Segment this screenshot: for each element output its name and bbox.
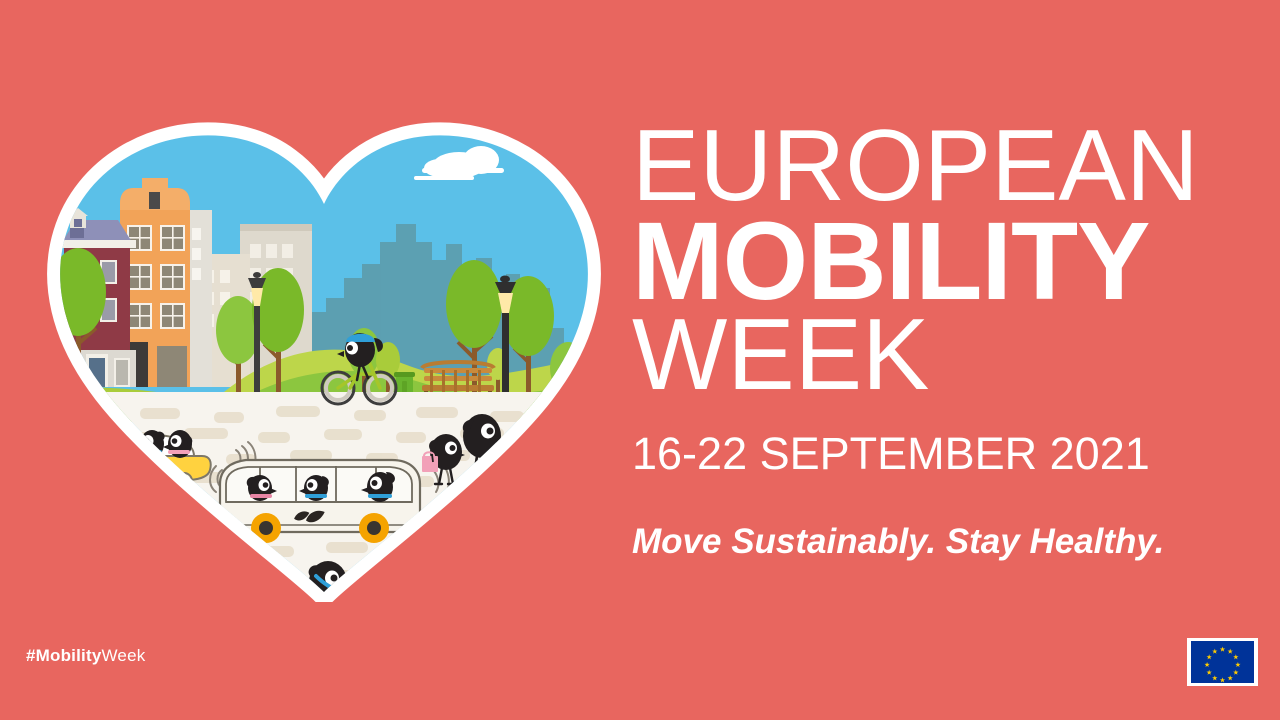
hashtag-light-part: Week [101, 646, 145, 665]
poster-text-block: EUROPEAN MOBILITY WEEK 16-22 SEPTEMBER 2… [632, 118, 1232, 562]
heart-scene [44, 92, 604, 602]
mobility-week-poster: EUROPEAN MOBILITY WEEK 16-22 SEPTEMBER 2… [0, 0, 1280, 720]
hashtag-bold-part: Mobility [36, 646, 102, 665]
european-union-flag [1187, 638, 1258, 686]
hashtag: #MobilityWeek [26, 646, 145, 666]
heart-city-illustration [44, 92, 604, 602]
event-date: 16-22 SEPTEMBER 2021 [632, 428, 1232, 480]
hashtag-symbol: # [26, 646, 36, 665]
pram [505, 450, 540, 477]
event-tagline: Move Sustainably. Stay Healthy. [632, 522, 1232, 562]
